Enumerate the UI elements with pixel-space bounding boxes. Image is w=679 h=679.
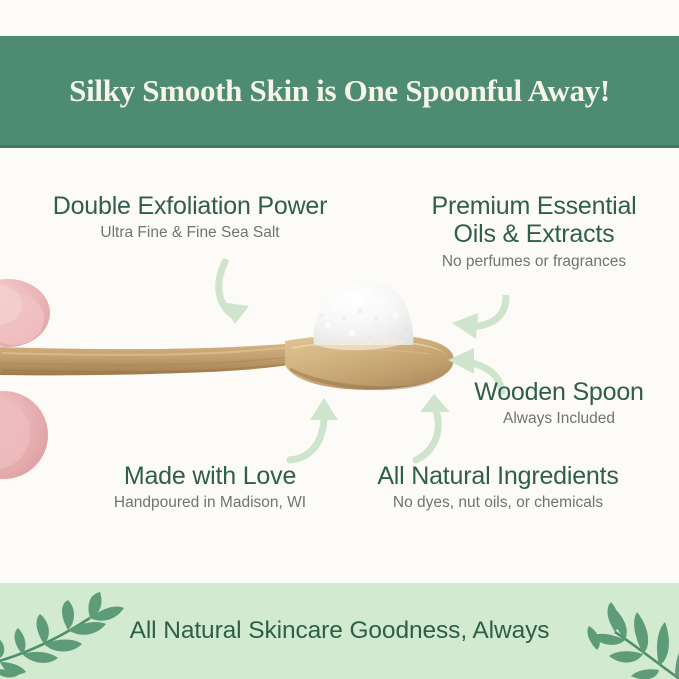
spoon-bowl (285, 334, 454, 390)
feature-subtitle: No perfumes or fragrances (398, 252, 670, 271)
feature-subtitle: No dyes, nut oils, or chemicals (342, 493, 654, 512)
feature-wooden-spoon: Wooden Spoon Always Included (440, 378, 678, 429)
footer-tagline: All Natural Skincare Goodness, Always (130, 617, 550, 645)
arrow-to-spoon-from-love (286, 398, 342, 464)
feature-all-natural-ingredients: All Natural Ingredients No dyes, nut oil… (342, 462, 654, 513)
feature-title: Wooden Spoon (440, 378, 678, 406)
arrow-to-salt-from-exfoliation (215, 258, 275, 333)
salt-scrub-mound (313, 281, 413, 350)
leaf-branch-right-icon (563, 588, 679, 679)
header-banner: Silky Smooth Skin is One Spoonful Away! (0, 36, 679, 148)
feature-title: Premium Essential Oils & Extracts (398, 192, 670, 249)
feature-title: Made with Love (70, 462, 350, 490)
feature-subtitle: Always Included (440, 409, 678, 428)
spoon-handle (0, 343, 300, 375)
feature-subtitle: Handpoured in Madison, WI (70, 493, 350, 512)
feature-premium-essential-oils: Premium Essential Oils & Extracts No per… (398, 192, 670, 271)
thumb (0, 279, 50, 347)
leaf-branch-left-icon (0, 592, 124, 679)
page-title: Silky Smooth Skin is One Spoonful Away! (69, 73, 610, 109)
feature-made-with-love: Made with Love Handpoured in Madison, WI (70, 462, 350, 513)
feature-title: All Natural Ingredients (342, 462, 654, 490)
feature-title: Double Exfoliation Power (10, 192, 370, 220)
infographic-page: Silky Smooth Skin is One Spoonful Away! (0, 0, 679, 679)
finger (0, 391, 48, 479)
feature-double-exfoliation-power: Double Exfoliation Power Ultra Fine & Fi… (10, 192, 370, 243)
feature-subtitle: Ultra Fine & Fine Sea Salt (10, 223, 370, 242)
arrow-to-salt-from-oils (444, 295, 510, 345)
